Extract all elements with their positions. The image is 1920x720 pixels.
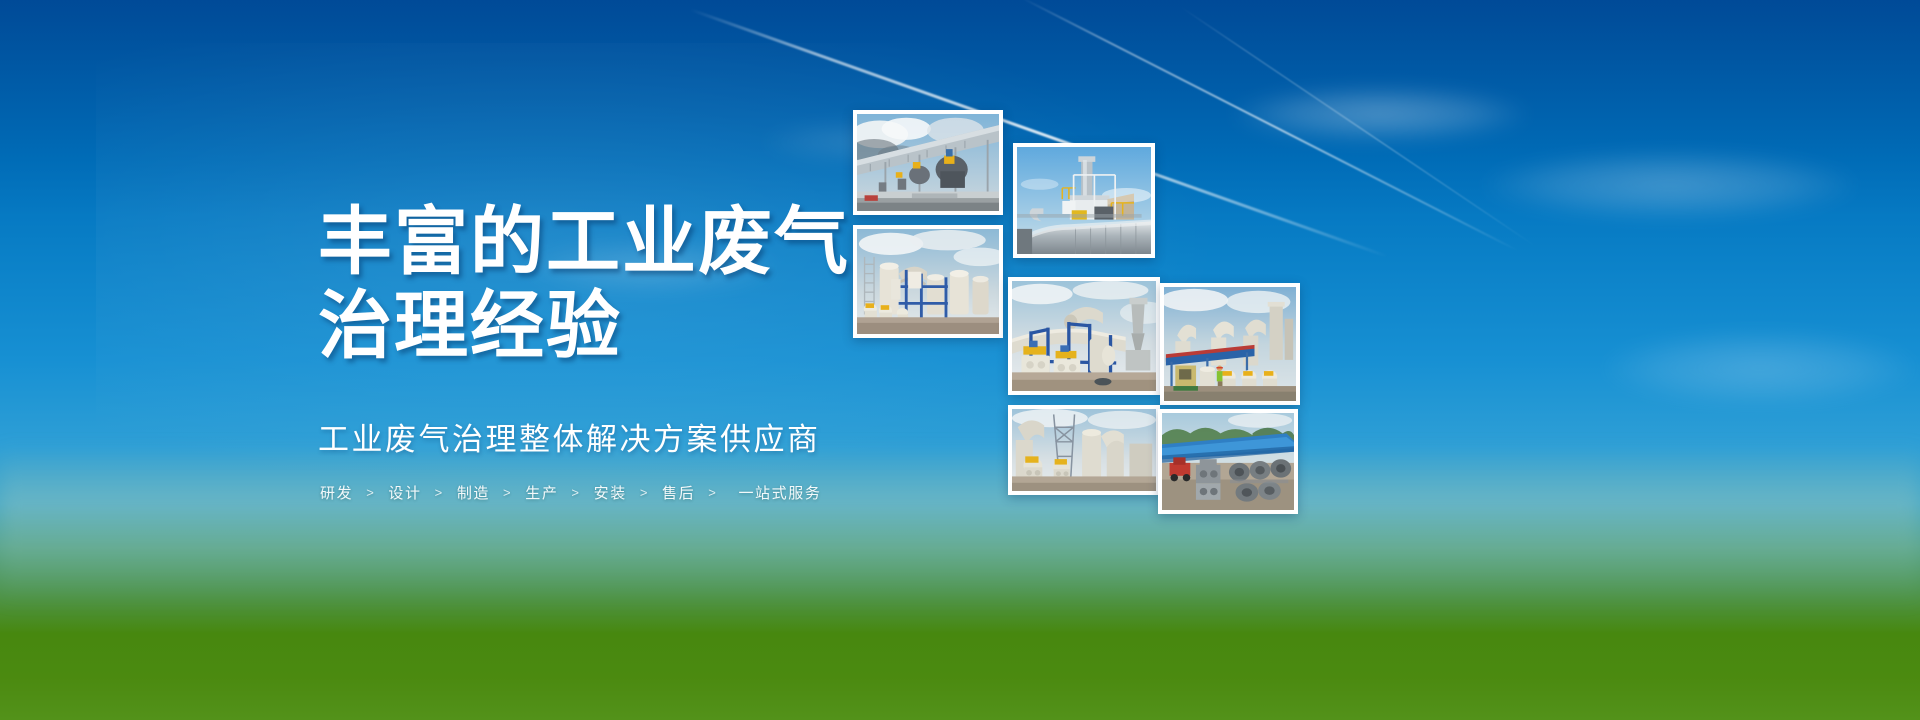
process-separator-icon: > xyxy=(560,485,591,500)
collage-photo-plant-overview[interactable] xyxy=(1160,283,1300,405)
process-step-production: 生产 xyxy=(523,482,560,503)
process-separator-icon: > xyxy=(355,485,386,500)
duct-run-image xyxy=(1012,281,1156,391)
process-step-one-stop-service: 一站式服务 xyxy=(736,482,823,503)
plant-overview-image xyxy=(1164,287,1296,401)
process-step-design: 设计 xyxy=(386,482,423,503)
banner-subtitle: 工业废气治理整体解决方案供应商 xyxy=(318,420,1018,460)
process-step-installation: 安装 xyxy=(592,482,629,503)
process-separator-icon: > xyxy=(424,485,455,500)
collage-photo-blower-yard[interactable] xyxy=(1008,405,1160,495)
pipe-rack-image xyxy=(857,114,999,211)
collage-photo-pipe-rack[interactable] xyxy=(853,110,1003,215)
blower-yard-image xyxy=(1012,409,1156,491)
process-separator-icon: > xyxy=(697,485,728,500)
collage-photo-duct-run[interactable] xyxy=(1008,277,1160,395)
process-separator-icon: > xyxy=(492,485,523,500)
process-step-aftersales: 售后 xyxy=(660,482,697,503)
process-steps: 研发 > 设计 > 制造 > 生产 > 安装 > 售后 > 一站式服务 xyxy=(318,482,1018,503)
equipment-yard-image xyxy=(1162,413,1294,510)
collage-photo-scrubber-towers[interactable] xyxy=(853,225,1003,338)
collage-photo-rto-unit[interactable] xyxy=(1013,143,1155,258)
process-step-research: 研发 xyxy=(318,482,355,503)
process-separator-icon: > xyxy=(629,485,660,500)
scrubber-towers-image xyxy=(857,229,999,334)
process-step-manufacture: 制造 xyxy=(455,482,492,503)
collage-photo-equipment-yard[interactable] xyxy=(1158,409,1298,514)
rto-unit-image xyxy=(1017,147,1151,254)
hero-banner: 丰富的工业废气 治理经验 工业废气治理整体解决方案供应商 研发 > 设计 > 制… xyxy=(0,0,1920,720)
